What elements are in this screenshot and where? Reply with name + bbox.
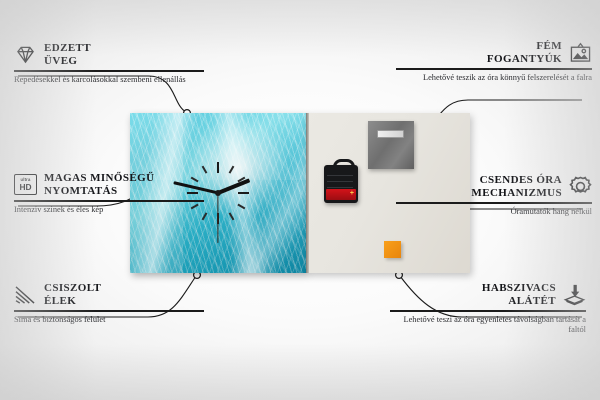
press-pad-icon <box>563 283 586 306</box>
callout-rule <box>396 202 592 204</box>
callout-title-line1: FÉM <box>536 40 562 52</box>
infographic-canvas: + EDZETT ÜVEG Repedésekkel és karcolások… <box>0 0 600 400</box>
callout-title-line2: FOGANTYÚK <box>487 53 562 65</box>
diamond-icon <box>14 43 37 66</box>
callout-title-line1: MAGAS MINŐSÉGŰ <box>44 172 154 184</box>
panel-edge <box>306 113 309 273</box>
metal-hanger-plate <box>368 121 414 169</box>
ultra-hd-icon: ultraHD <box>14 173 37 196</box>
callout-title-line2: NYOMTATÁS <box>44 185 117 197</box>
callout-rule <box>14 200 204 202</box>
polished-edge-icon <box>14 283 37 306</box>
callout-title-line2: MECHANIZMUS <box>471 187 562 199</box>
callout-title-line2: ÜVEG <box>44 55 77 67</box>
callout-description: Intenzív színek és éles kép <box>14 205 204 216</box>
gear-icon <box>569 175 592 198</box>
hanger-slot <box>377 130 404 138</box>
callout-rule <box>14 310 204 312</box>
callout-silent-mechanism: CSENDES ÓRA MECHANIZMUS Óramutatók hang … <box>396 174 592 217</box>
hands-cap <box>215 190 221 196</box>
callout-title-line1: HABSZIVACS <box>482 282 556 294</box>
callout-title-line2: ÉLEK <box>44 295 76 307</box>
callout-title-line2: ALÁTÉT <box>508 295 556 307</box>
callout-rule <box>14 70 204 72</box>
foam-spacer-pad <box>384 241 401 258</box>
callout-polished-edges: CSISZOLT ÉLEK Sima és biztonságos felüle… <box>14 282 204 325</box>
callout-rule <box>390 310 586 312</box>
callout-title-line1: CSENDES ÓRA <box>480 174 562 186</box>
callout-foam-pad: HABSZIVACS ALÁTÉT Lehetővé teszi az óra … <box>390 282 586 336</box>
callout-description: Repedésekkel és karcolásokkal szembeni e… <box>14 75 204 86</box>
battery: + <box>326 189 356 200</box>
callout-description: Sima és biztonságos felület <box>14 315 204 326</box>
callout-title-line1: EDZETT <box>44 42 91 54</box>
callout-title-line1: CSISZOLT <box>44 282 101 294</box>
mechanism-bracket <box>333 159 355 172</box>
quartz-clock-mechanism: + <box>324 165 358 203</box>
callout-high-quality-print: ultraHD MAGAS MINŐSÉGŰ NYOMTATÁS Intenzí… <box>14 172 204 215</box>
callout-description: Óramutatók hang nélkül <box>396 207 592 218</box>
picture-hanger-icon <box>569 41 592 64</box>
callout-tempered-glass: EDZETT ÜVEG Repedésekkel és karcolásokka… <box>14 42 204 85</box>
callout-rule <box>396 68 592 70</box>
callout-description: Lehetővé teszik az óra könnyű felszerelé… <box>396 73 592 84</box>
callout-metal-handles: FÉM FOGANTYÚK Lehetővé teszik az óra kön… <box>396 40 592 83</box>
callout-description: Lehetővé teszi az óra egyenletes távolsá… <box>390 315 586 336</box>
